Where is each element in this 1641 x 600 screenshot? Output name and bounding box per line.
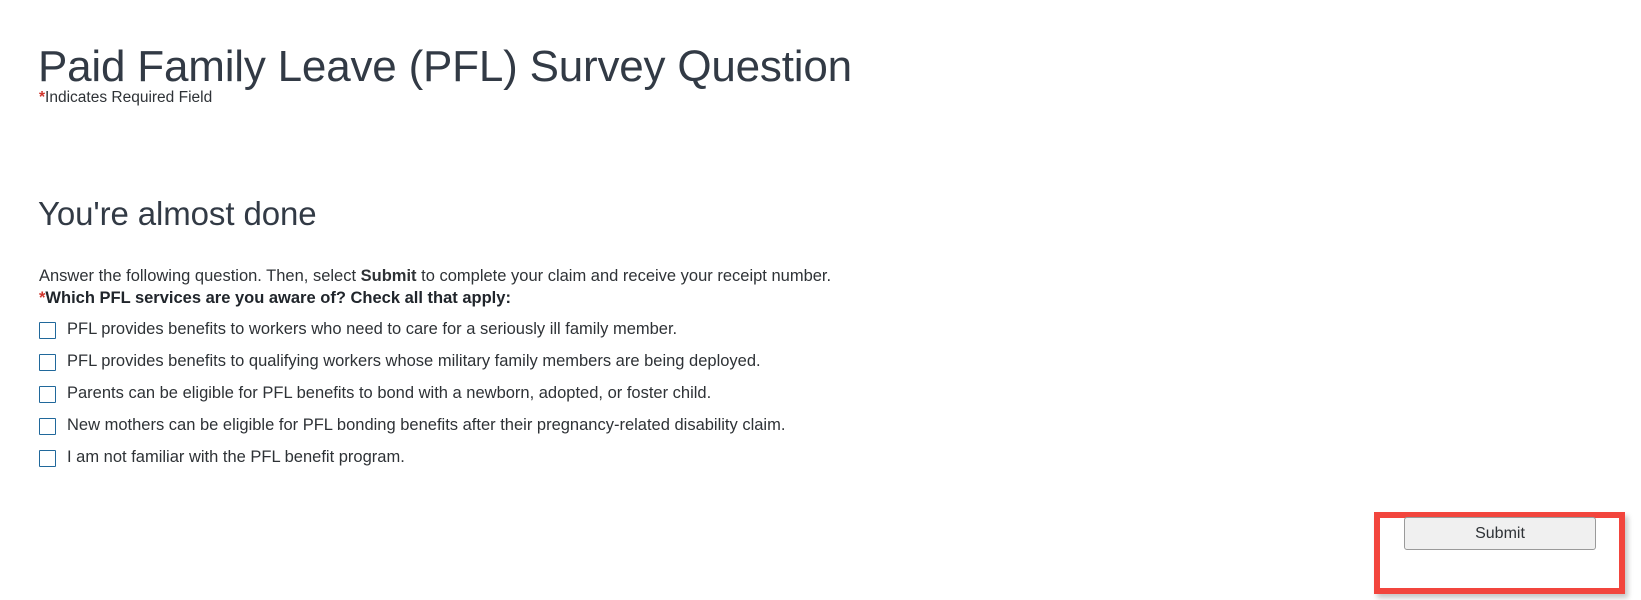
checkbox-icon[interactable] [39, 386, 56, 403]
checkbox-icon[interactable] [39, 418, 56, 435]
submit-button[interactable]: Submit [1404, 517, 1596, 550]
checkbox-option-row[interactable]: I am not familiar with the PFL benefit p… [39, 442, 1139, 474]
required-note-text: Indicates Required Field [45, 89, 212, 106]
intro-text-before: Answer the following question. Then, sel… [39, 267, 361, 285]
checkbox-option-row[interactable]: Parents can be eligible for PFL benefits… [39, 378, 1139, 410]
pfl-services-checkbox-group: PFL provides benefits to workers who nee… [39, 314, 1139, 474]
checkbox-option-label[interactable]: New mothers can be eligible for PFL bond… [67, 415, 785, 436]
section-heading: You're almost done [38, 195, 316, 233]
checkbox-option-row[interactable]: New mothers can be eligible for PFL bond… [39, 410, 1139, 442]
checkbox-option-label[interactable]: I am not familiar with the PFL benefit p… [67, 447, 405, 468]
checkbox-option-label[interactable]: PFL provides benefits to workers who nee… [67, 319, 677, 340]
checkbox-option-label[interactable]: PFL provides benefits to qualifying work… [67, 351, 761, 372]
checkbox-option-row[interactable]: PFL provides benefits to qualifying work… [39, 346, 1139, 378]
intro-paragraph: Answer the following question. Then, sel… [39, 265, 831, 287]
page-title: Paid Family Leave (PFL) Survey Question [38, 41, 852, 93]
checkbox-option-label[interactable]: Parents can be eligible for PFL benefits… [67, 383, 711, 404]
question-label: *Which PFL services are you aware of? Ch… [39, 289, 511, 308]
required-field-note: *Indicates Required Field [39, 88, 212, 108]
checkbox-option-row[interactable]: PFL provides benefits to workers who nee… [39, 314, 1139, 346]
survey-page: Paid Family Leave (PFL) Survey Question … [0, 0, 1641, 600]
checkbox-icon[interactable] [39, 322, 56, 339]
question-label-text: Which PFL services are you aware of? Che… [45, 289, 511, 307]
intro-text-submit-emphasis: Submit [361, 267, 417, 285]
checkbox-icon[interactable] [39, 354, 56, 371]
checkbox-icon[interactable] [39, 450, 56, 467]
intro-text-after: to complete your claim and receive your … [417, 267, 832, 285]
